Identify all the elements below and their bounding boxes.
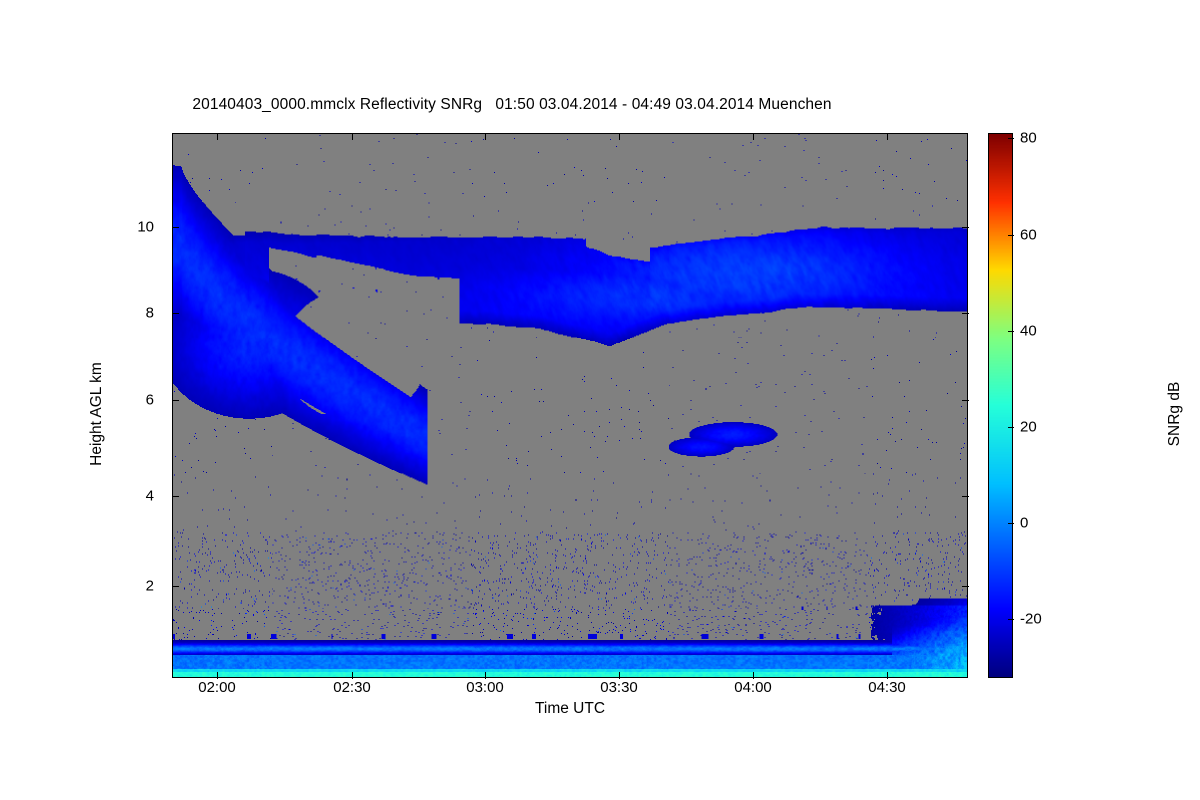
- x-tick-label-0400: 04:00: [734, 679, 772, 696]
- x-tick-0200-top: [217, 133, 218, 140]
- y-tick-2-right: [962, 586, 969, 587]
- colorbar-tick-60: [1008, 235, 1014, 236]
- x-tick-0300-top: [485, 133, 486, 140]
- x-tick-0200: [217, 672, 218, 679]
- x-axis-title: Time UTC: [172, 700, 968, 718]
- figure-title-text: 20140403_0000.mmclx Reflectivity SNRg 01…: [192, 96, 831, 114]
- colorbar-tick-0: [1008, 523, 1014, 524]
- colorbar-label-20: 20: [1020, 419, 1037, 436]
- x-tick-0400-top: [753, 133, 754, 140]
- x-tick-0300: [485, 672, 486, 679]
- colorbar-label-minus20: -20: [1020, 611, 1042, 628]
- x-tick-0330-top: [619, 133, 620, 140]
- x-tick-label-0430: 04:30: [868, 679, 906, 696]
- x-tick-0400: [753, 672, 754, 679]
- colorbar-label-40: 40: [1020, 323, 1037, 340]
- x-tick-0330: [619, 672, 620, 679]
- y-tick-label-8: 8: [132, 305, 154, 322]
- x-tick-0430: [887, 672, 888, 679]
- x-tick-0230: [352, 672, 353, 679]
- y-tick-8-right: [962, 313, 969, 314]
- colorbar-title: SNRg dB: [1166, 304, 1184, 524]
- y-tick-10: [172, 227, 179, 228]
- y-tick-6-right: [962, 400, 969, 401]
- x-tick-label-0300: 03:00: [466, 679, 504, 696]
- x-tick-label-0330: 03:30: [600, 679, 638, 696]
- radar-reflectivity-figure: 20140403_0000.mmclx Reflectivity SNRg 01…: [0, 0, 1200, 800]
- y-tick-8: [172, 313, 179, 314]
- colorbar-tick-80: [1008, 138, 1014, 139]
- y-tick-label-10: 10: [132, 219, 154, 236]
- colorbar-tick-20: [1008, 427, 1014, 428]
- colorbar-tick-minus20: [1008, 619, 1014, 620]
- colorbar: [988, 133, 1013, 678]
- figure-title: 20140403_0000.mmclx Reflectivity SNRg 01…: [0, 96, 1200, 114]
- y-tick-10-right: [962, 227, 969, 228]
- y-tick-2: [172, 586, 179, 587]
- colorbar-gradient: [989, 134, 1012, 677]
- x-tick-0230-top: [352, 133, 353, 140]
- colorbar-label-60: 60: [1020, 227, 1037, 244]
- y-tick-4: [172, 496, 179, 497]
- y-tick-label-4: 4: [132, 488, 154, 505]
- plot-area: [172, 133, 968, 678]
- y-tick-6: [172, 400, 179, 401]
- colorbar-label-80: 80: [1020, 130, 1037, 147]
- y-tick-label-2: 2: [132, 578, 154, 595]
- colorbar-label-0: 0: [1020, 515, 1028, 532]
- y-axis-title: Height AGL km: [88, 304, 106, 524]
- y-tick-label-6: 6: [132, 392, 154, 409]
- x-tick-0430-top: [887, 133, 888, 140]
- reflectivity-heatmap-canvas: [173, 134, 967, 677]
- x-tick-label-0230: 02:30: [333, 679, 371, 696]
- y-tick-4-right: [962, 496, 969, 497]
- colorbar-tick-40: [1008, 331, 1014, 332]
- x-tick-label-0200: 02:00: [198, 679, 236, 696]
